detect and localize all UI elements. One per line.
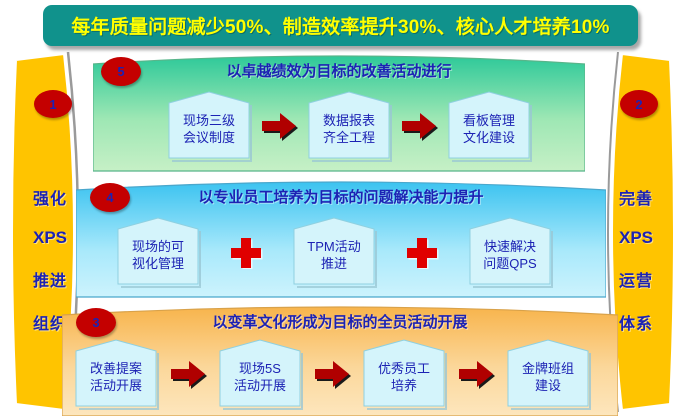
node-box[interactable]: 现场的可 视化管理: [114, 216, 202, 288]
arrow-right-icon: [312, 358, 352, 390]
node-box[interactable]: 现场5S 活动开展: [216, 338, 304, 410]
headline-banner: 每年质量问题减少50%、制造效率提升30%、核心人才培养10%: [43, 5, 638, 46]
panel-4-node-row: 现场的可 视化管理 TPM活动 推进: [114, 216, 554, 288]
connector-arrow: [304, 338, 360, 410]
node-box[interactable]: 数据报表 齐全工程: [305, 90, 393, 162]
left-pillar-word-1: XPS: [33, 228, 67, 248]
arrow-right-icon: [259, 110, 299, 142]
node-label: 现场5S 活动开展: [234, 354, 286, 394]
left-pillar-word-0: 强化: [33, 185, 67, 209]
node-box[interactable]: 优秀员工 培养: [360, 338, 448, 410]
plus-icon: [229, 235, 263, 269]
node-label: 金牌班组 建设: [522, 354, 574, 394]
node-label: 现场三级 会议制度: [183, 106, 235, 146]
arrow-right-icon: [168, 358, 208, 390]
panel-5-node-row: 现场三级 会议制度 数据报表 齐全工程: [165, 90, 533, 162]
node-label: 优秀员工 培养: [378, 354, 430, 394]
slide-canvas: 每年质量问题减少50%、制造效率提升30%、核心人才培养10% 1 强化 XPS…: [0, 0, 681, 416]
node-label: 看板管理 文化建设: [463, 106, 515, 146]
connector-arrow: [393, 90, 445, 162]
panel-3-node-row: 改善提案 活动开展 现场5S 活动开展: [72, 338, 592, 410]
node-label: 现场的可 视化管理: [132, 232, 184, 272]
connector-arrow: [253, 90, 305, 162]
connector-plus: [202, 216, 290, 288]
panel-5-title: 以卓越绩效为目标的改善活动进行: [93, 60, 585, 81]
panel-3: 3 以变革文化形成为目标的全员活动开展 改善提案 活动开展: [62, 302, 618, 416]
node-label: TPM活动 推进: [307, 232, 360, 272]
pillar-badge-1: 1: [34, 90, 72, 118]
node-box[interactable]: 快速解决 问题QPS: [466, 216, 554, 288]
panel-3-title: 以变革文化形成为目标的全员活动开展: [62, 311, 618, 332]
connector-plus: [378, 216, 466, 288]
node-box[interactable]: 金牌班组 建设: [504, 338, 592, 410]
node-label: 快速解决 问题QPS: [483, 232, 536, 272]
right-pillar-word-0: 完善: [619, 185, 653, 209]
connector-arrow: [160, 338, 216, 410]
right-pillar-word-3: 体系: [619, 310, 653, 334]
node-box[interactable]: TPM活动 推进: [290, 216, 378, 288]
plus-icon: [405, 235, 439, 269]
connector-arrow: [448, 338, 504, 410]
node-box[interactable]: 看板管理 文化建设: [445, 90, 533, 162]
left-pillar-word-2: 推进: [33, 267, 67, 291]
headline-text: 每年质量问题减少50%、制造效率提升30%、核心人才培养10%: [71, 12, 609, 39]
panel-5: 5 以卓越绩效为目标的改善活动进行 现场三级 会议制度: [93, 50, 585, 173]
arrow-right-icon: [456, 358, 496, 390]
node-label: 改善提案 活动开展: [90, 354, 142, 394]
node-box[interactable]: 现场三级 会议制度: [165, 90, 253, 162]
node-label: 数据报表 齐全工程: [323, 106, 375, 146]
right-pillar-word-1: XPS: [619, 228, 653, 248]
node-box[interactable]: 改善提案 活动开展: [72, 338, 160, 410]
panel-4: 4 以专业员工培养为目标的问题解决能力提升 现场的可 视化管理: [76, 176, 606, 299]
right-pillar-word-2: 运营: [619, 267, 653, 291]
panel-4-title: 以专业员工培养为目标的问题解决能力提升: [76, 186, 606, 207]
arrow-right-icon: [399, 110, 439, 142]
pillar-badge-2: 2: [620, 90, 658, 118]
